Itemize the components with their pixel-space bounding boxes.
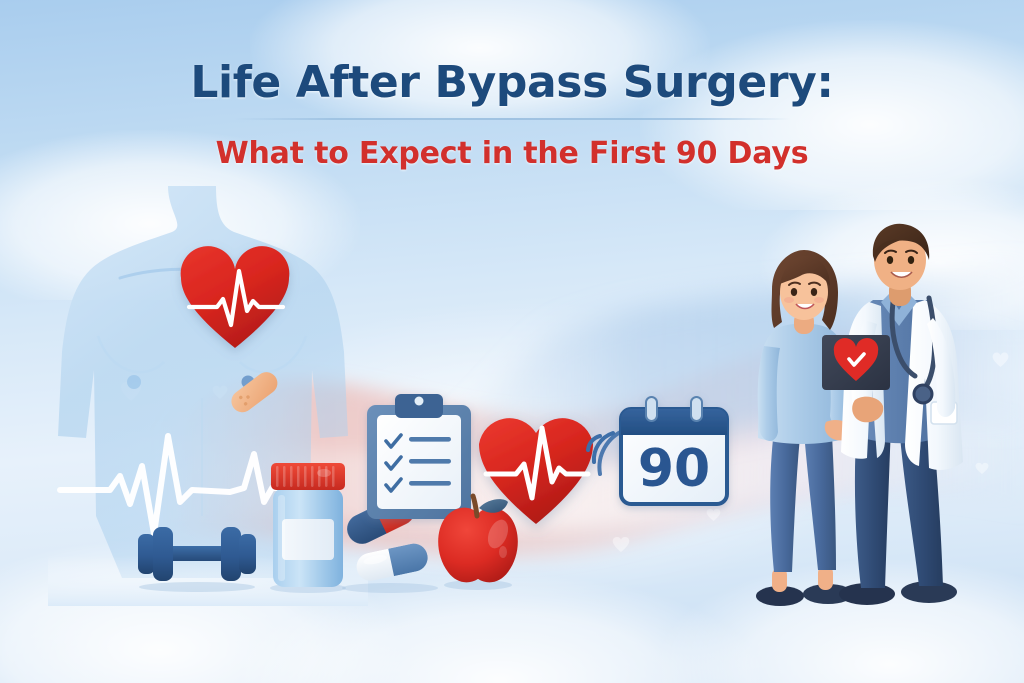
doctor-man-figure bbox=[833, 226, 983, 606]
heart-ecg-icon bbox=[179, 249, 291, 353]
page-title: Life After Bypass Surgery: bbox=[0, 58, 1024, 109]
floating-heart-5 bbox=[992, 352, 1009, 368]
dumbbell-icon bbox=[134, 519, 260, 591]
floating-heart-4 bbox=[706, 508, 721, 522]
calendar-day-number: 90 bbox=[638, 439, 710, 499]
banner-image: 90 bbox=[0, 0, 1024, 683]
page-subtitle: What to Expect in the First 90 Days bbox=[0, 136, 1024, 171]
heading-block: Life After Bypass Surgery: What to Expec… bbox=[0, 58, 1024, 171]
heart-pulse-signal-icon bbox=[478, 406, 622, 532]
calendar-90-days-icon: 90 bbox=[617, 396, 731, 508]
bandage-icon bbox=[228, 368, 282, 418]
tablet-heart-check-icon bbox=[821, 334, 891, 392]
floating-heart-3 bbox=[612, 536, 630, 553]
title-divider bbox=[234, 118, 790, 120]
